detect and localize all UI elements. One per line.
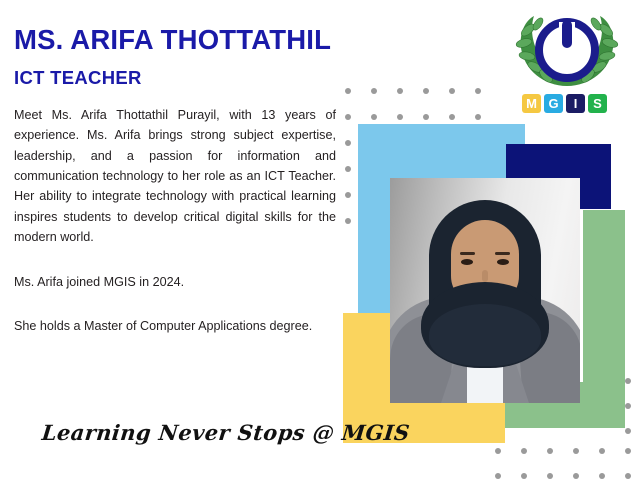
- portrait-eyebrow-left: [460, 252, 475, 255]
- decorative-dot: [449, 88, 455, 94]
- teacher-joined-note: Ms. Arifa joined MGIS in 2024.: [14, 272, 344, 292]
- decorative-dot: [423, 88, 429, 94]
- decorative-dot: [371, 88, 377, 94]
- teacher-degree-note: She holds a Master of Computer Applicati…: [14, 316, 336, 336]
- teacher-role: ICT TEACHER: [14, 67, 344, 89]
- portrait-eyebrow-right: [495, 252, 510, 255]
- teacher-bio: Meet Ms. Arifa Thottathil Purayil, with …: [14, 105, 336, 248]
- decorative-dot: [521, 448, 527, 454]
- decorative-dot: [423, 114, 429, 120]
- mgis-tile-m: M: [522, 94, 541, 113]
- teacher-name: MS. ARIFA THOTTATHIL: [14, 26, 344, 55]
- decorative-dot: [521, 473, 527, 479]
- decorative-dot: [371, 114, 377, 120]
- decorative-dot: [345, 140, 351, 146]
- decorative-dot: [495, 473, 501, 479]
- decorative-dot: [475, 88, 481, 94]
- portrait-eye-left: [461, 259, 473, 265]
- mgis-letter-tiles: MGIS: [522, 94, 607, 113]
- power-symbol-icon: [539, 20, 595, 78]
- decorative-dot: [345, 218, 351, 224]
- mgis-tile-g: G: [544, 94, 563, 113]
- decorative-dot: [573, 448, 579, 454]
- decorative-dot: [599, 473, 605, 479]
- decorative-dot: [345, 192, 351, 198]
- teacher-info-column: MS. ARIFA THOTTATHIL ICT TEACHER Meet Ms…: [14, 26, 344, 336]
- decorative-dot: [345, 88, 351, 94]
- mgis-emblem-icon: [508, 10, 626, 92]
- decorative-dot: [397, 88, 403, 94]
- decorative-dot: [475, 114, 481, 120]
- decorative-dot: [599, 448, 605, 454]
- decorative-dot: [625, 428, 631, 434]
- portrait-eye-right: [497, 259, 509, 265]
- mgis-logo: MGIS: [508, 10, 626, 120]
- portrait-hijab-drape-2: [429, 304, 541, 366]
- decorative-dot: [547, 473, 553, 479]
- decorative-dot: [345, 114, 351, 120]
- decorative-dot: [345, 166, 351, 172]
- decorative-dot: [625, 403, 631, 409]
- decorative-dot: [625, 448, 631, 454]
- decorative-dot: [495, 448, 501, 454]
- teacher-profile-poster: MGIS MS. ARIFA THOTTATHIL ICT TEACHER Me…: [0, 0, 640, 490]
- mgis-tile-s: S: [588, 94, 607, 113]
- portrait-nose: [482, 270, 488, 282]
- decorative-dot: [573, 473, 579, 479]
- decorative-dot: [625, 378, 631, 384]
- mgis-tile-i: I: [566, 94, 585, 113]
- teacher-portrait-photo: [390, 178, 580, 403]
- decorative-dot: [625, 473, 631, 479]
- decorative-dot: [397, 114, 403, 120]
- decorative-dot: [547, 448, 553, 454]
- school-tagline: Learning Never Stops @ MGIS: [41, 420, 411, 445]
- decorative-dot: [449, 114, 455, 120]
